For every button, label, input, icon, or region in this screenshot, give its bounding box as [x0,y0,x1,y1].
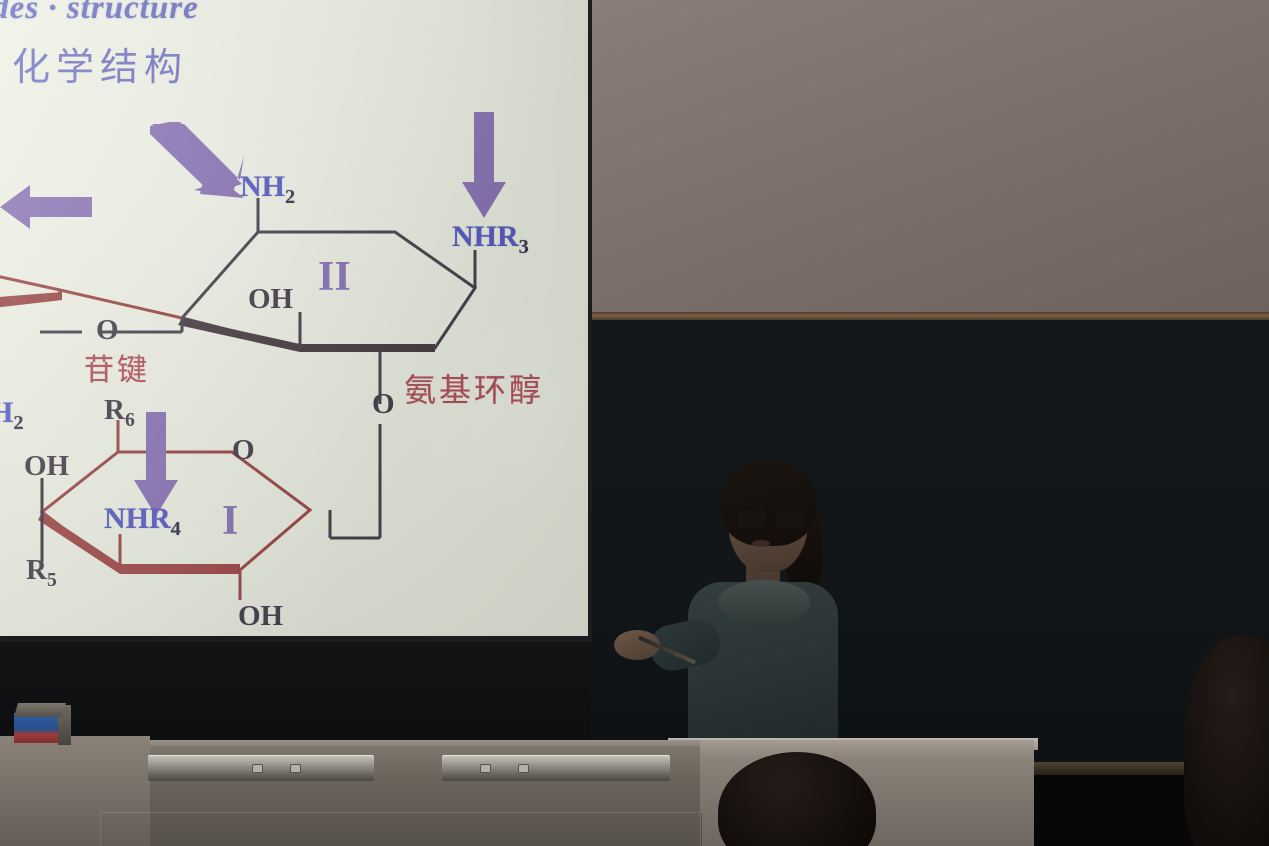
arrow-pointing-nhr3 [460,112,508,220]
drawer-slide-rail [148,755,374,781]
label-nh2: NH2 [240,172,295,207]
rail-hole [290,764,301,773]
label-r5: R5 [26,556,57,591]
label-o-glycosidic-right: O [372,390,395,419]
rail-hole [252,764,263,773]
label-r6: R6 [104,396,135,431]
drawer-slide-rail [442,755,670,781]
chalk-box-lid [14,703,66,717]
desk-drawer-seam [100,812,702,846]
label-o-ring1-top: O [232,436,255,465]
annotation-glycosidic-bond: 苷键 [84,356,150,386]
wall-below-screen [0,636,590,746]
projection-screen: ides · structure 化学结构 [0,0,588,636]
lecturer-mouth [752,540,770,547]
annotation-aminocyclitol: 氨基环醇 [404,374,544,406]
ring-numeral-one: I [222,500,238,542]
lecturer-hair [720,460,816,546]
arrow-pointing-left-ring3 [0,185,92,229]
label-oh-ring2: OH [248,285,293,314]
lens-right [774,508,805,529]
label-nhr4: NHR4 [104,504,181,539]
chalk-box [14,703,72,743]
rail-hole [480,764,491,773]
chemical-structure-bonds [0,0,588,636]
label-o-glycosidic-left: O [96,316,119,345]
label-h2-ring3-partial: H2 [0,398,24,433]
lecturer [640,452,870,762]
glasses-bridge [763,515,774,517]
label-nhr3: NHR3 [452,222,529,257]
lecturer-ruffled-collar [718,580,810,624]
rail-hole [518,764,529,773]
label-oh-ring1-left: OH [24,452,69,481]
eyeglasses-icon [736,508,804,525]
chalk-box-body [14,713,60,743]
label-oh-ring1-bottom: OH [238,602,283,631]
arrow-pointing-nh2 [148,122,246,200]
classroom-wall [580,0,1269,318]
lens-left [736,508,767,529]
ring-numeral-two: II [318,256,351,298]
lecture-hall-photo: ides · structure 化学结构 [0,0,1269,846]
